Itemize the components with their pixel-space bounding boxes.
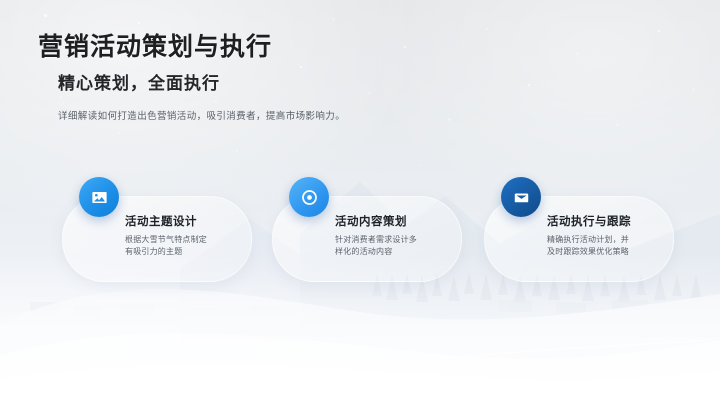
page-lead-text: 详细解读如何打造出色营销活动，吸引消费者，提高市场影响力。 bbox=[58, 108, 345, 122]
feature-card-3-title: 活动执行与跟踪 bbox=[547, 213, 671, 229]
feature-card-2-desc-line1: 针对消费者需求设计多 bbox=[335, 234, 459, 246]
feature-card-1-body: 活动主题设计 根据大雪节气特点制定 有吸引力的主题 bbox=[125, 213, 249, 259]
feature-card-3-desc-line2: 及时跟踪效果优化策略 bbox=[547, 246, 671, 258]
snow-particle bbox=[236, 150, 238, 152]
image-icon bbox=[79, 177, 119, 217]
snow-particle bbox=[486, 28, 488, 30]
page-subtitle: 精心策划，全面执行 bbox=[58, 69, 220, 94]
snow-particle bbox=[692, 88, 695, 91]
feature-card-2-body: 活动内容策划 针对消费者需求设计多 样化的活动内容 bbox=[335, 213, 459, 259]
snow-particle bbox=[404, 46, 406, 48]
snow-particle bbox=[658, 30, 660, 32]
feature-card-list: 活动主题设计 根据大雪节气特点制定 有吸引力的主题 活动内容策划 针对消费者需求… bbox=[0, 178, 720, 288]
envelope-icon bbox=[501, 177, 541, 217]
feature-card-3-desc-line1: 精确执行活动计划，并 bbox=[547, 234, 671, 246]
feature-card-3[interactable]: 活动执行与跟踪 精确执行活动计划，并 及时跟踪效果优化策略 bbox=[484, 196, 674, 282]
slide-root: 营销活动策划与执行 精心策划，全面执行 详细解读如何打造出色营销活动，吸引消费者… bbox=[0, 0, 720, 404]
page-title: 营销活动策划与执行 bbox=[38, 27, 272, 63]
snow-particle bbox=[332, 18, 335, 21]
snow-particle bbox=[118, 132, 120, 134]
feature-card-1-desc-line2: 有吸引力的主题 bbox=[125, 246, 249, 258]
snow-particle bbox=[576, 52, 579, 55]
feature-card-2-title: 活动内容策划 bbox=[335, 213, 459, 229]
target-icon bbox=[289, 177, 329, 217]
feature-card-2-desc-line2: 样化的活动内容 bbox=[335, 246, 459, 258]
feature-card-2[interactable]: 活动内容策划 针对消费者需求设计多 样化的活动内容 bbox=[272, 196, 462, 282]
feature-card-3-body: 活动执行与跟踪 精确执行活动计划，并 及时跟踪效果优化策略 bbox=[547, 213, 671, 259]
snow-particle bbox=[300, 66, 302, 68]
feature-card-1-desc: 根据大雪节气特点制定 有吸引力的主题 bbox=[125, 234, 249, 259]
snow-particle bbox=[420, 164, 422, 166]
snow-particle bbox=[616, 124, 618, 126]
snow-particle bbox=[60, 96, 62, 98]
snow-particle bbox=[448, 118, 451, 121]
feature-card-3-desc: 精确执行活动计划，并 及时跟踪效果优化策略 bbox=[547, 234, 671, 259]
feature-card-2-desc: 针对消费者需求设计多 样化的活动内容 bbox=[335, 234, 459, 259]
feature-card-1-title: 活动主题设计 bbox=[125, 213, 249, 229]
snow-particle bbox=[368, 92, 370, 94]
snow-particle bbox=[214, 100, 217, 103]
feature-card-1[interactable]: 活动主题设计 根据大雪节气特点制定 有吸引力的主题 bbox=[62, 196, 252, 282]
snow-particle bbox=[44, 14, 47, 17]
snow-particle bbox=[138, 22, 140, 24]
snow-particle bbox=[528, 84, 530, 86]
feature-card-1-desc-line1: 根据大雪节气特点制定 bbox=[125, 234, 249, 246]
